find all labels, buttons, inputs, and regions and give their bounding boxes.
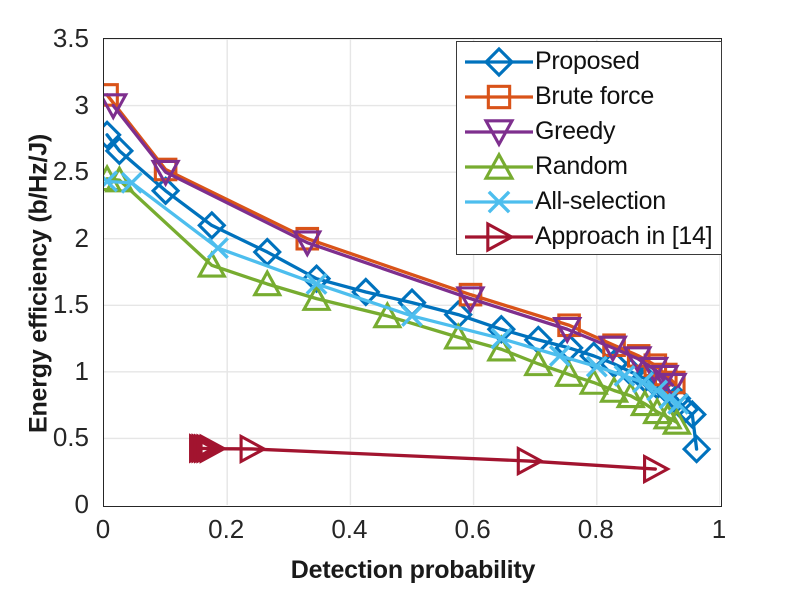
figure-canvas: Energy efficiency (b/Hz/J) Detection pro… <box>0 0 797 598</box>
triangle-down-marker-icon <box>463 115 535 149</box>
x-tick-label: 0 <box>68 516 138 542</box>
y-tick-label: 1 <box>29 358 89 384</box>
legend-item-brute-force[interactable]: Brute force <box>457 79 721 114</box>
x-tick-label: 0.2 <box>191 516 261 542</box>
x-axis-label: Detection probability <box>103 556 723 585</box>
y-tick-label: 3 <box>29 92 89 118</box>
legend-item-approach-in-14[interactable]: Approach in [14] <box>457 219 721 254</box>
x-tick-label: 0.6 <box>438 516 508 542</box>
x-tick-label: 0.4 <box>314 516 384 542</box>
y-tick-label: 3.5 <box>29 25 89 51</box>
y-tick-label: 1.5 <box>29 291 89 317</box>
y-tick-label: 2 <box>29 225 89 251</box>
legend-item-proposed[interactable]: Proposed <box>457 44 721 79</box>
x-tick-label: 1 <box>684 516 754 542</box>
legend-item-random[interactable]: Random <box>457 149 721 184</box>
legend-item-label: Approach in [14] <box>535 222 712 251</box>
legend-item-label: Random <box>535 152 628 181</box>
legend-item-label: Proposed <box>535 47 640 76</box>
y-axis-tick-labels: 00.511.522.533.5 <box>27 0 89 598</box>
legend-item-label: Brute force <box>535 82 654 111</box>
y-tick-label: 0 <box>29 491 89 517</box>
legend-item-label: Greedy <box>535 117 615 146</box>
diamond-marker-icon <box>463 45 535 79</box>
square-marker-icon <box>463 80 535 114</box>
y-tick-label: 2.5 <box>29 158 89 184</box>
cross-marker-icon <box>463 185 535 219</box>
series-approach-in-14 <box>191 436 668 482</box>
legend-item-label: All-selection <box>535 187 666 216</box>
x-tick-label: 0.8 <box>561 516 631 542</box>
triangle-right-marker-icon <box>463 220 535 254</box>
legend-box: ProposedBrute forceGreedyRandomAll-selec… <box>456 41 722 255</box>
legend-item-greedy[interactable]: Greedy <box>457 114 721 149</box>
y-tick-label: 0.5 <box>29 424 89 450</box>
x-axis-tick-labels: 00.20.40.60.81 <box>0 516 797 556</box>
legend-item-all-selection[interactable]: All-selection <box>457 184 721 219</box>
triangle-up-marker-icon <box>463 150 535 184</box>
